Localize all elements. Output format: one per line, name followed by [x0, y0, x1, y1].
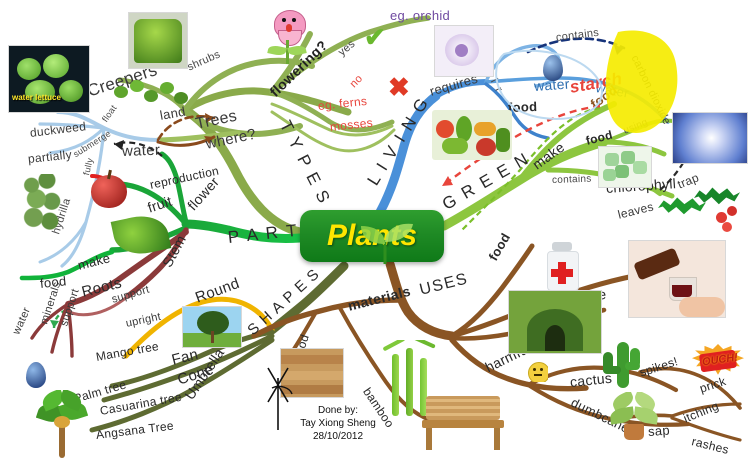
signature-line1: Done by: [278, 404, 398, 417]
mindmap-canvas: water lettuce [0, 0, 750, 470]
signature-line2: Tay Xiong Sheng [278, 417, 398, 430]
central-topic-plants[interactable]: Plants [300, 210, 444, 262]
tick-icon: ✔ [364, 22, 386, 53]
central-topic-label: Plants [327, 219, 417, 253]
cross-icon: ✖ [388, 72, 410, 103]
signature-block: Done by: Tay Xiong Sheng 28/10/2012 [278, 404, 398, 443]
signature-line3: 28/10/2012 [278, 430, 398, 443]
